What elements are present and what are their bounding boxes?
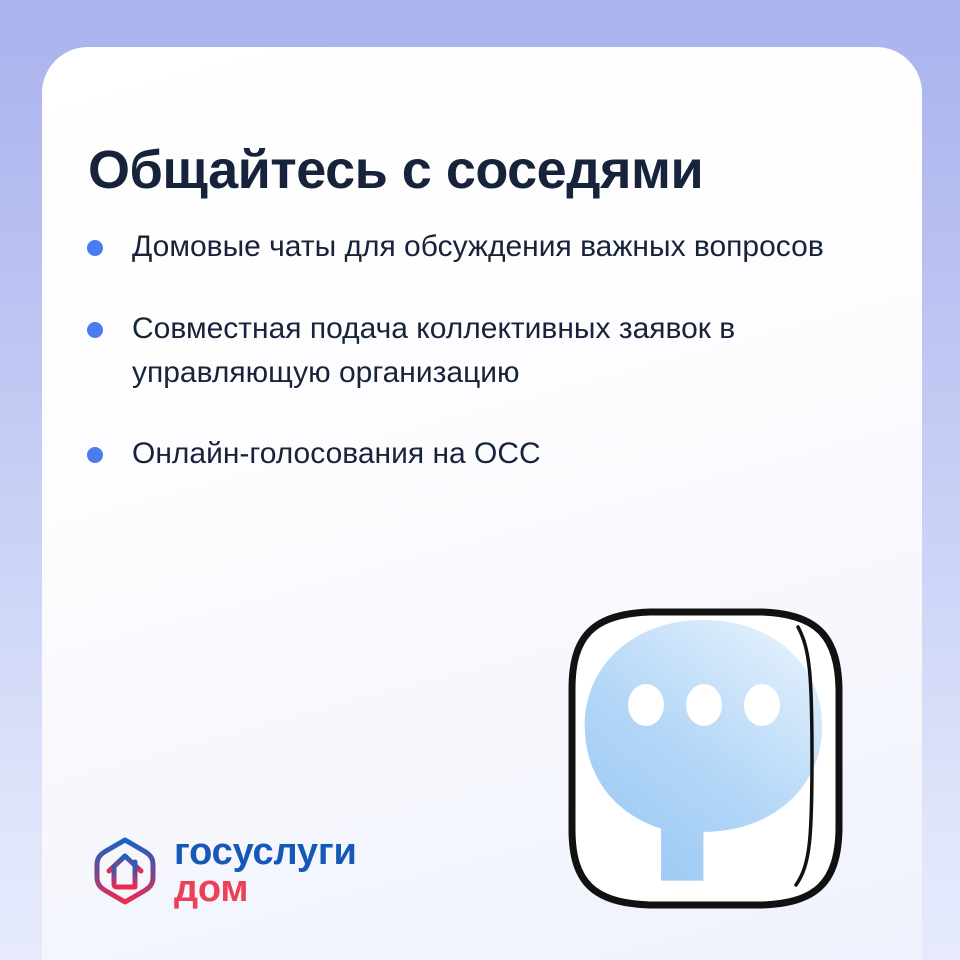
list-item: Онлайн-голосования на ОСС <box>82 432 892 476</box>
logo-secondary-text: дом <box>174 871 357 908</box>
bullet-dot-icon <box>87 240 103 256</box>
feature-list: Домовые чаты для обсуждения важных вопро… <box>82 225 892 476</box>
bullet-dot-icon <box>87 447 103 463</box>
gosuslugi-dom-logo[interactable]: госуслуги дом <box>92 834 357 908</box>
logo-wordmark: госуслуги дом <box>174 834 357 908</box>
slide-canvas: Общайтесь с соседями Домовые чаты для об… <box>0 0 960 960</box>
list-item-label: Онлайн-голосования на ОСС <box>132 437 541 470</box>
gosuslugi-house-hexagon-icon <box>92 836 158 906</box>
list-item-label: Домовые чаты для обсуждения важных вопро… <box>132 230 824 263</box>
list-item-label: Совместная подача коллективных заявок в … <box>132 312 735 389</box>
bullet-dot-icon <box>87 322 103 338</box>
chat-bubble-illustration <box>554 597 854 917</box>
list-item: Совместная подача коллективных заявок в … <box>82 307 892 395</box>
list-item: Домовые чаты для обсуждения важных вопро… <box>82 225 892 269</box>
content-card: Общайтесь с соседями Домовые чаты для об… <box>42 47 922 960</box>
logo-primary-text: госуслуги <box>174 834 357 871</box>
page-title: Общайтесь с соседями <box>88 141 888 199</box>
